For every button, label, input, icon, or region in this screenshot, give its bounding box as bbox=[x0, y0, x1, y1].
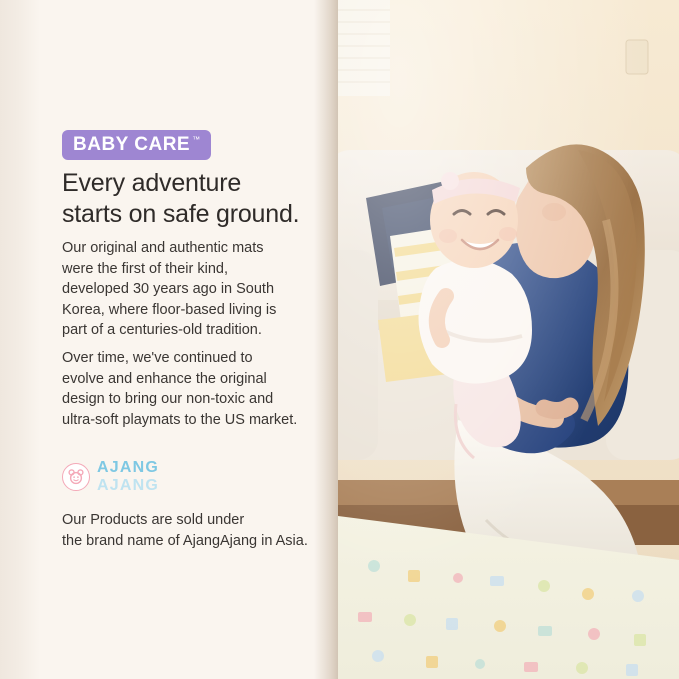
paragraph-line: developed 30 years ago in South bbox=[62, 279, 312, 300]
trademark-symbol: ™ bbox=[192, 136, 200, 144]
paragraph-line: the brand name of AjangAjang in Asia. bbox=[62, 531, 312, 552]
ajang-bear-mark-icon bbox=[62, 463, 90, 491]
text-content: BABY CARE™ Every adventure starts on saf… bbox=[62, 0, 324, 679]
paragraph-evolution: Over time, we've continued to evolve and… bbox=[62, 348, 312, 430]
lifestyle-photo bbox=[338, 0, 679, 679]
paragraph-line: evolve and enhance the original bbox=[62, 369, 312, 390]
ajang-ajang-wordmark: AJANG AJANG bbox=[97, 460, 159, 494]
ajang-word-1: AJANG bbox=[97, 460, 159, 476]
headline-line-2: starts on safe ground. bbox=[62, 199, 330, 230]
headline-line-1: Every adventure bbox=[62, 169, 241, 197]
paragraph-line: were the first of their kind, bbox=[62, 259, 312, 280]
baby-care-logo-badge: BABY CARE™ bbox=[62, 130, 211, 160]
paragraph-line: ultra-soft playmats to the US market. bbox=[62, 410, 312, 431]
product-lifestyle-banner: BABY CARE™ Every adventure starts on saf… bbox=[0, 0, 679, 679]
text-panel: BABY CARE™ Every adventure starts on saf… bbox=[0, 0, 338, 679]
headline: Every adventure starts on safe ground. bbox=[62, 168, 330, 230]
baby-care-logo-text: BABY CARE bbox=[73, 135, 190, 154]
ajang-word-2: AJANG bbox=[97, 478, 159, 494]
paragraph-line: Korea, where floor-based living is bbox=[62, 300, 312, 321]
paragraph-line: design to bring our non-toxic and bbox=[62, 389, 312, 410]
ajang-ajang-logo: AJANG AJANG bbox=[62, 458, 182, 496]
paragraph-line: Our Products are sold under bbox=[62, 510, 312, 531]
paragraph-line: Our original and authentic mats bbox=[62, 238, 312, 259]
paragraph-line: Over time, we've continued to bbox=[62, 348, 312, 369]
paragraph-line: part of a centuries-old tradition. bbox=[62, 320, 312, 341]
paragraph-origin: Our original and authentic mats were the… bbox=[62, 238, 312, 341]
paragraph-asia-brand: Our Products are sold under the brand na… bbox=[62, 510, 312, 551]
